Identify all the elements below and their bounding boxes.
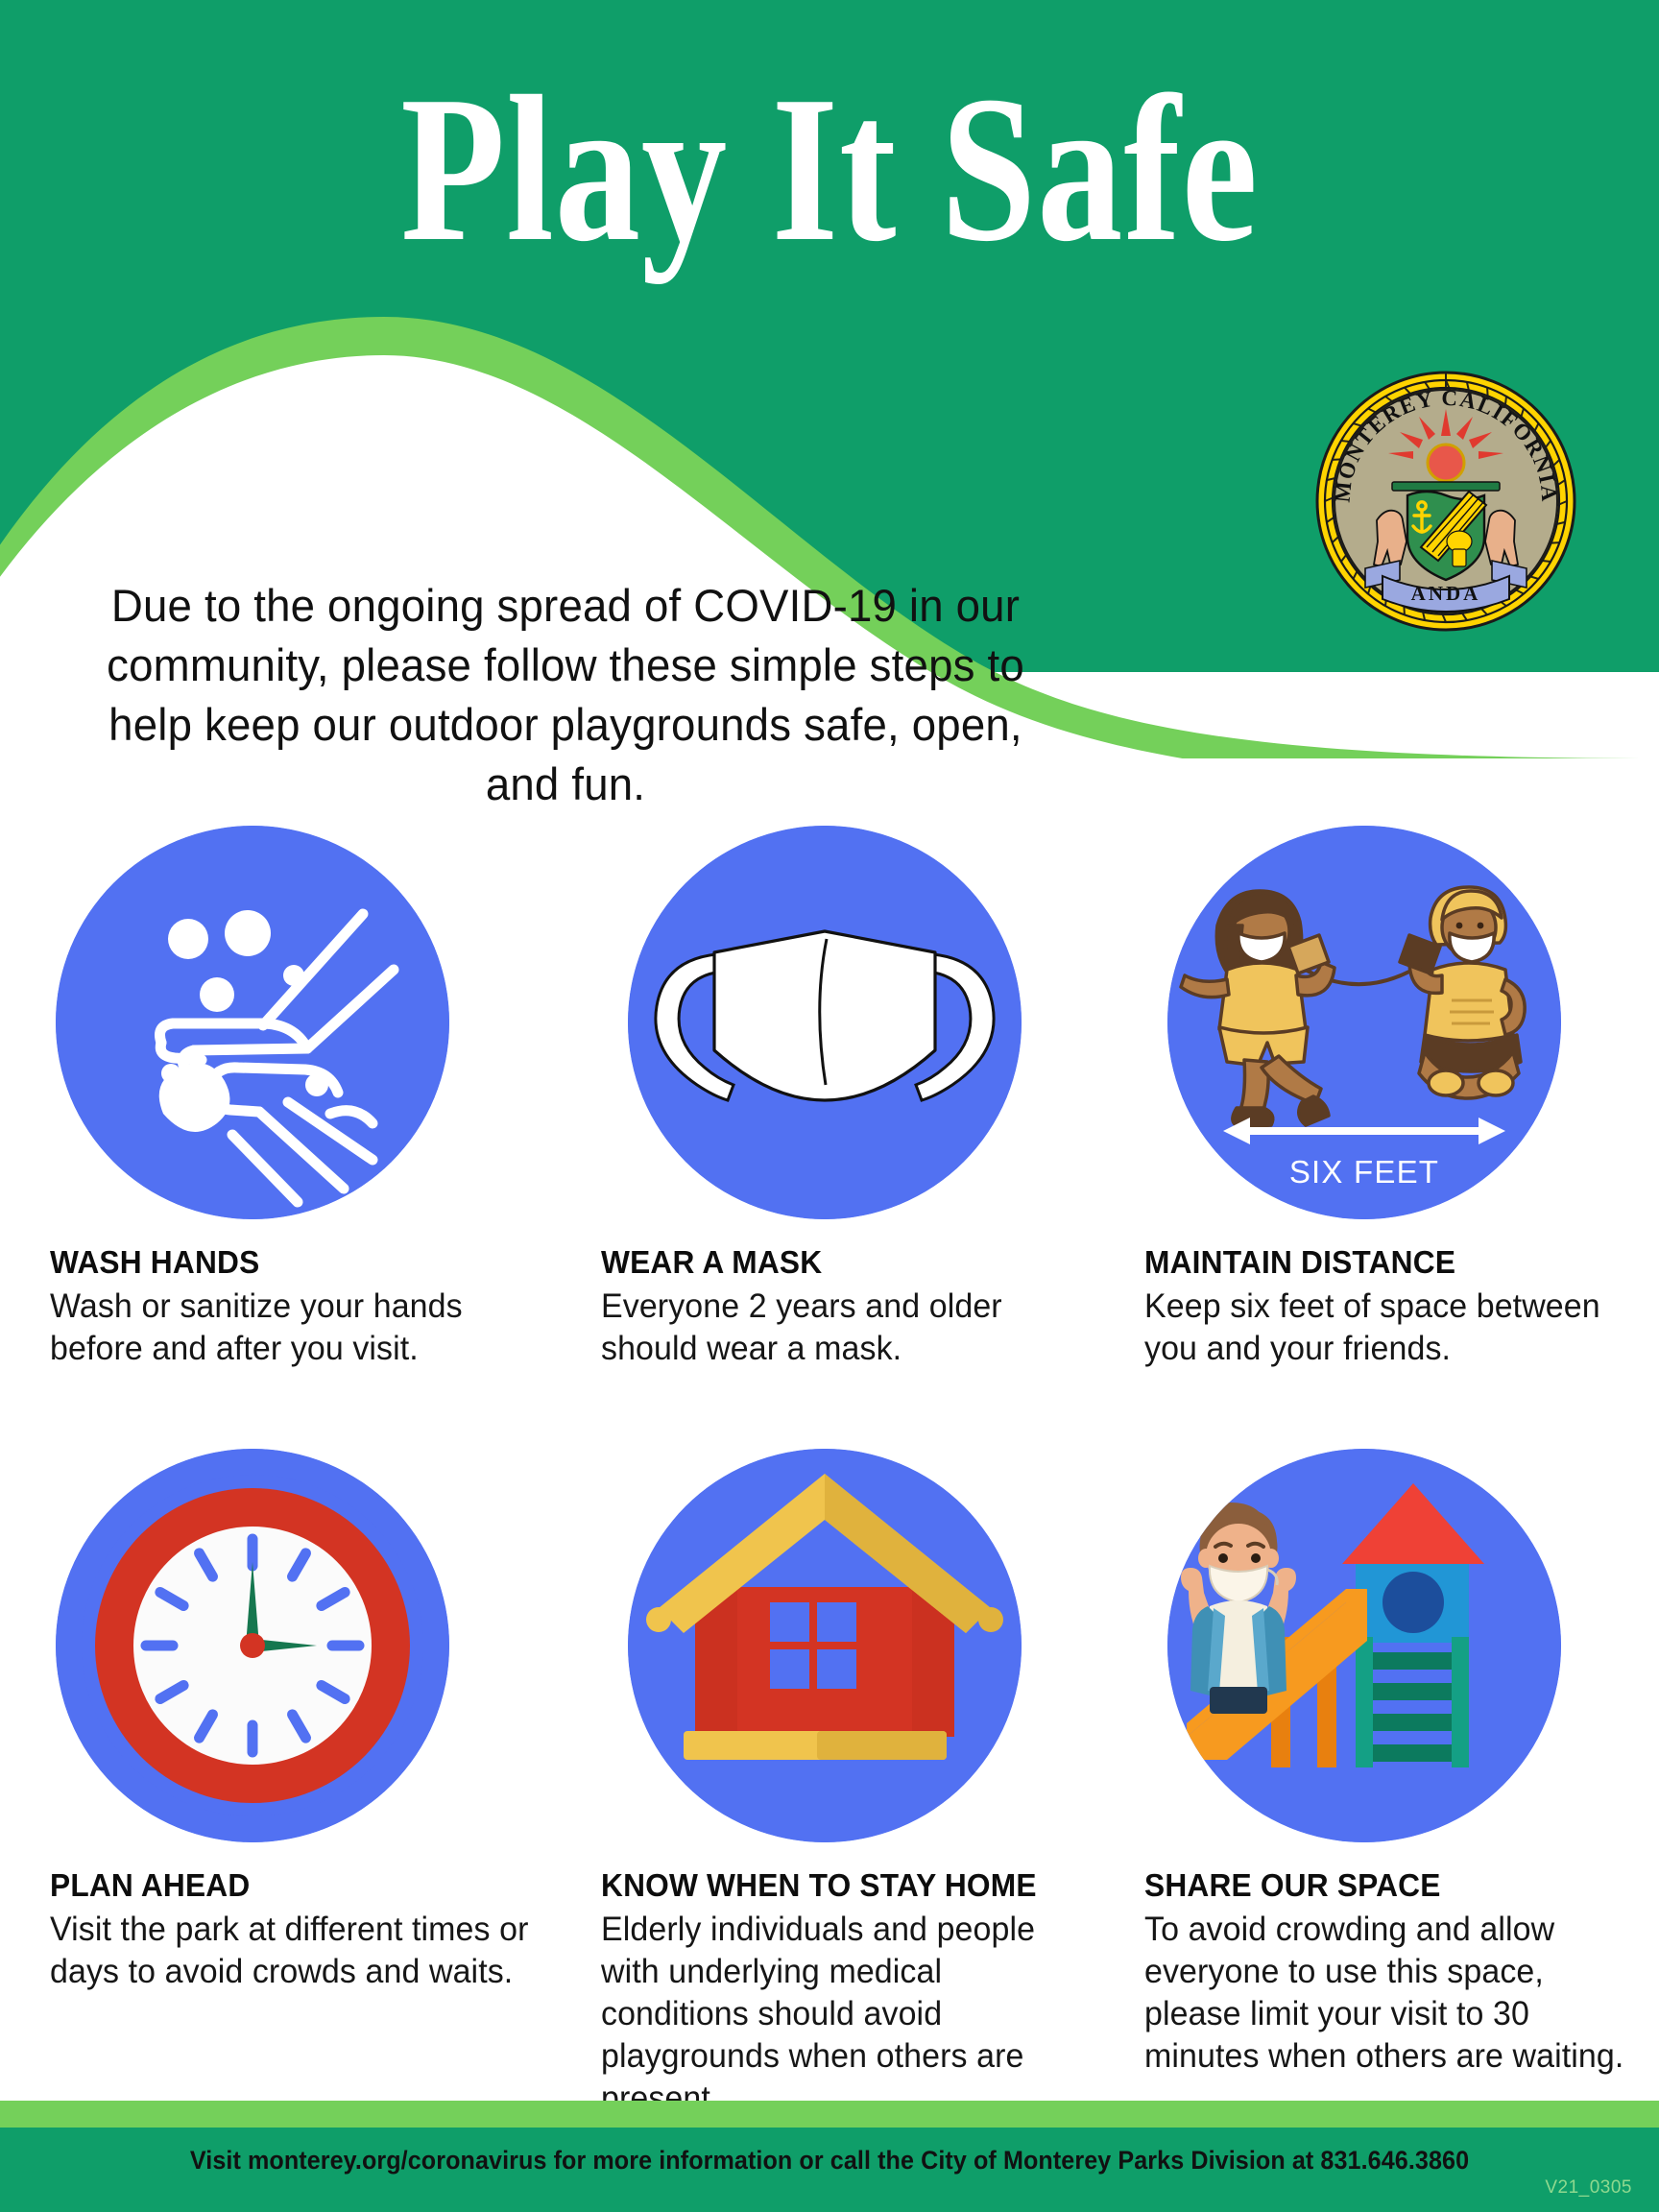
page-title: Play It Safe (150, 65, 1510, 275)
tip-body: Visit the park at different times or day… (50, 1909, 534, 1993)
tip-card-wear-a-mask: WEAR A MASK Everyone 2 years and older s… (553, 826, 1106, 1370)
tips-row-2: PLAN AHEAD Visit the park at different t… (0, 1449, 1659, 2120)
tip-caption: MAINTAIN DISTANCE Keep six feet of space… (1144, 1244, 1644, 1370)
tips-row-1: WASH HANDS Wash or sanitize your hands b… (0, 826, 1659, 1370)
wash-hands-icon (56, 826, 449, 1219)
tip-caption: PLAN AHEAD Visit the park at different t… (50, 1867, 549, 1993)
clock-icon (56, 1449, 449, 1842)
playground-slide-icon (1167, 1449, 1561, 1842)
tip-card-maintain-distance: SIX FEET MAINTAIN DISTANCE Keep six feet… (1106, 826, 1659, 1370)
tip-body: Wash or sanitize your hands before and a… (50, 1286, 534, 1370)
tip-title: MAINTAIN DISTANCE (1144, 1244, 1623, 1282)
intro-paragraph: Due to the ongoing spread of COVID-19 in… (95, 576, 1036, 814)
tips-grid: WASH HANDS Wash or sanitize your hands b… (0, 826, 1659, 2121)
tip-card-wash-hands: WASH HANDS Wash or sanitize your hands b… (0, 826, 553, 1370)
tip-title: SHARE OUR SPACE (1144, 1867, 1623, 1905)
tip-caption: WASH HANDS Wash or sanitize your hands b… (50, 1244, 549, 1370)
tip-body: To avoid crowding and allow everyone to … (1144, 1909, 1628, 2078)
tip-body: Elderly individuals and people with unde… (601, 1909, 1085, 2120)
city-seal: MONTEREY CALIFORNIA (1313, 369, 1578, 634)
tip-caption: WEAR A MASK Everyone 2 years and older s… (601, 1244, 1100, 1370)
tip-body: Everyone 2 years and older should wear a… (601, 1286, 1085, 1370)
tip-title: KNOW WHEN TO STAY HOME (601, 1867, 1080, 1905)
six-feet-label: SIX FEET (1289, 1154, 1439, 1190)
house-icon (628, 1449, 1022, 1842)
seal-bull (1485, 511, 1518, 568)
version-tag: V21_0305 (1545, 2177, 1632, 2199)
poster-root: Play It Safe (0, 0, 1659, 2212)
monterey-seal-icon: MONTEREY CALIFORNIA (1313, 369, 1578, 634)
tip-title: WEAR A MASK (601, 1244, 1080, 1282)
tip-card-share-our-space: SHARE OUR SPACE To avoid crowding and al… (1106, 1449, 1659, 2120)
tip-caption: KNOW WHEN TO STAY HOME Elderly individua… (601, 1867, 1100, 2120)
tip-title: PLAN AHEAD (50, 1867, 529, 1905)
tip-card-stay-home: KNOW WHEN TO STAY HOME Elderly individua… (553, 1449, 1106, 2120)
tip-title: WASH HANDS (50, 1244, 529, 1282)
seal-banner-text: ANDA (1411, 582, 1481, 605)
seal-horse (1374, 511, 1407, 568)
tip-caption: SHARE OUR SPACE To avoid crowding and al… (1144, 1867, 1644, 2078)
face-mask-icon (628, 826, 1022, 1219)
footer-contact-text: Visit monterey.org/coronavirus for more … (58, 2146, 1600, 2176)
six-feet-distance-icon: SIX FEET (1167, 826, 1561, 1219)
tip-card-plan-ahead: PLAN AHEAD Visit the park at different t… (0, 1449, 553, 2120)
tip-body: Keep six feet of space between you and y… (1144, 1286, 1628, 1370)
footer-accent-bar (0, 2101, 1659, 2128)
